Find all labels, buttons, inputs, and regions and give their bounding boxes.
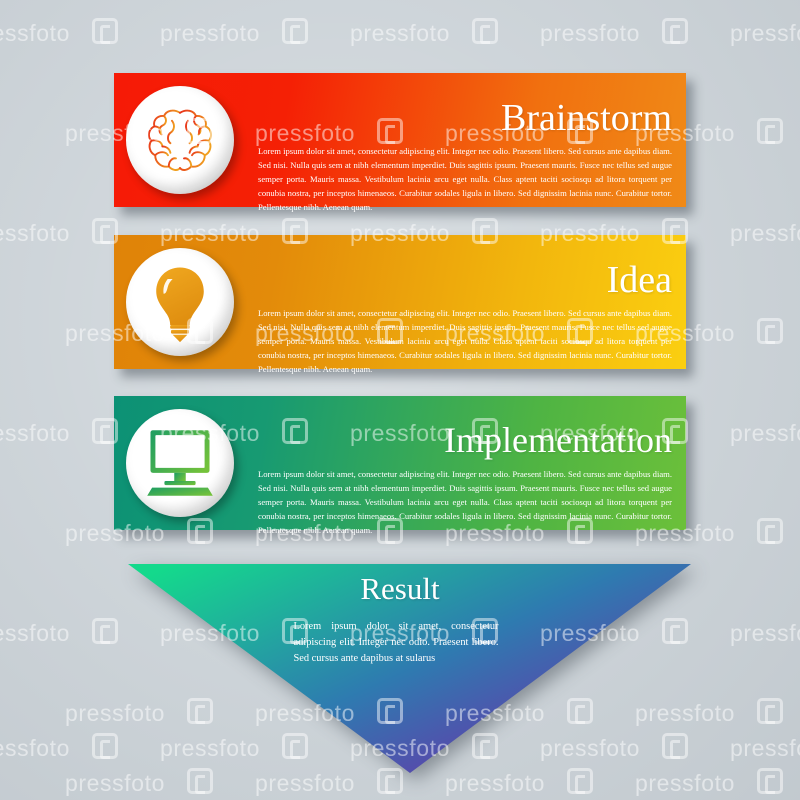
result-title: Result [0, 573, 800, 604]
step-banner-implementation[interactable]: Implementation Lorem ipsum dolor sit ame… [114, 396, 686, 530]
watermark-text: pressfoto [160, 20, 260, 47]
bulb-glass [156, 268, 204, 325]
watermark-text: pressfoto [445, 770, 545, 797]
watermark-text: pressfoto [0, 620, 70, 647]
step-body-implementation: Lorem ipsum dolor sit amet, consectetur … [258, 468, 672, 538]
lightbulb-icon-bubble [126, 248, 234, 356]
watermark-text: pressfoto [730, 220, 800, 247]
lightbulb-icon [139, 261, 221, 343]
result-body: Lorem ipsum dolor sit amet, consectetur … [294, 619, 499, 667]
pressfoto-logo-icon [92, 618, 118, 644]
watermark-text: pressfoto [255, 770, 355, 797]
step-body-idea: Lorem ipsum dolor sit amet, consectetur … [258, 307, 672, 377]
pressfoto-logo-icon [282, 18, 308, 44]
monitor-stand [174, 473, 185, 481]
watermark-text: pressfoto [730, 735, 800, 762]
pressfoto-logo-icon [757, 518, 783, 544]
watermark-text: pressfoto [0, 20, 70, 47]
step-title-brainstorm: Brainstorm [501, 99, 672, 137]
step-body-brainstorm: Lorem ipsum dolor sit amet, consectetur … [258, 145, 672, 215]
pressfoto-logo-icon [757, 318, 783, 344]
pressfoto-logo-icon [757, 118, 783, 144]
step-banner-brainstorm[interactable]: Brainstorm Lorem ipsum dolor sit amet, c… [114, 73, 686, 207]
watermark-text: pressfoto [730, 20, 800, 47]
computer-icon [139, 425, 221, 501]
brain-icon [140, 100, 220, 180]
brain-icon-bubble [126, 86, 234, 194]
pressfoto-logo-icon [757, 768, 783, 794]
watermark-text: pressfoto [0, 420, 70, 447]
monitor-screen [155, 435, 204, 468]
pressfoto-logo-icon [92, 733, 118, 759]
watermark-text: pressfoto [730, 620, 800, 647]
pressfoto-logo-icon [757, 698, 783, 724]
step-banner-idea[interactable]: Idea Lorem ipsum dolor sit amet, consect… [114, 235, 686, 369]
pressfoto-logo-icon [472, 18, 498, 44]
monitor-base [164, 481, 195, 485]
pressfoto-logo-icon [662, 18, 688, 44]
watermark-text: pressfoto [0, 735, 70, 762]
watermark-text: pressfoto [65, 770, 165, 797]
watermark-text: pressfoto [350, 20, 450, 47]
step-title-idea: Idea [607, 261, 672, 299]
keyboard [147, 488, 213, 496]
step-title-implementation: Implementation [444, 422, 672, 458]
watermark-text: pressfoto [635, 770, 735, 797]
pressfoto-logo-icon [92, 18, 118, 44]
watermark-text: pressfoto [730, 420, 800, 447]
watermark-text: pressfoto [0, 220, 70, 247]
computer-icon-bubble [126, 409, 234, 517]
watermark-text: pressfoto [540, 20, 640, 47]
